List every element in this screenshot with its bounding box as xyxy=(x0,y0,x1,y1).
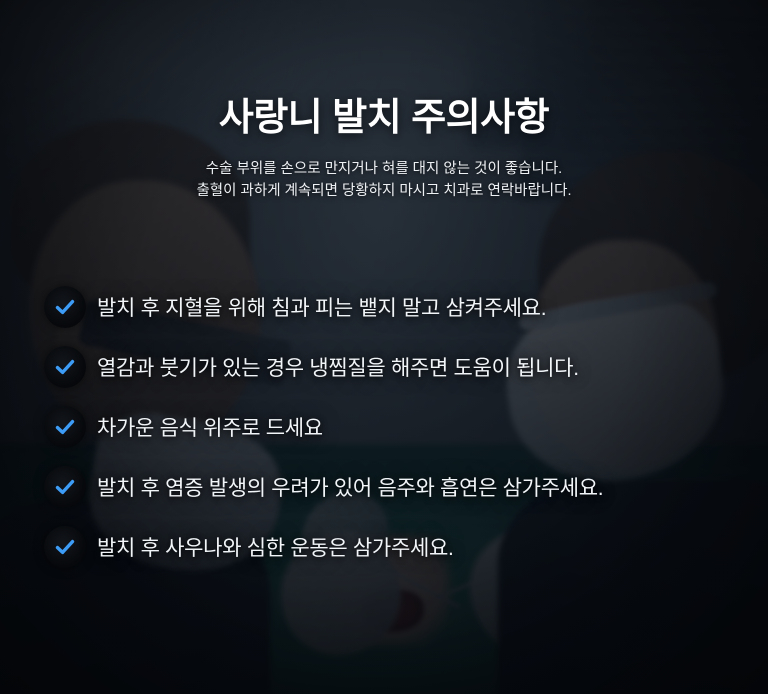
list-item-label: 발치 후 사우나와 심한 운동은 삼가주세요. xyxy=(97,532,454,562)
banner-content: 사랑니 발치 주의사항 수술 부위를 손으로 만지거나 혀를 대지 않는 것이 … xyxy=(0,0,768,694)
list-item: 발치 후 염증 발생의 우려가 있어 음주와 흡연은 삼가주세요. xyxy=(44,457,748,517)
check-icon xyxy=(44,526,86,568)
list-item: 열감과 붓기가 있는 경우 냉찜질을 해주면 도움이 됩니다. xyxy=(44,337,748,397)
check-icon xyxy=(44,406,86,448)
wisdom-tooth-precautions-banner: 사랑니 발치 주의사항 수술 부위를 손으로 만지거나 혀를 대지 않는 것이 … xyxy=(0,0,768,694)
list-item-label: 발치 후 지혈을 위해 침과 피는 뱉지 말고 삼켜주세요. xyxy=(97,292,546,322)
check-icon xyxy=(44,286,86,328)
subtitle-block: 수술 부위를 손으로 만지거나 혀를 대지 않는 것이 좋습니다. 출혈이 과하… xyxy=(0,158,768,202)
list-item-label: 차가운 음식 위주로 드세요 xyxy=(97,412,323,442)
subtitle-line-2: 출혈이 과하게 계속되면 당황하지 마시고 치과로 연락바랍니다. xyxy=(0,180,768,202)
check-icon xyxy=(44,346,86,388)
list-item-label: 열감과 붓기가 있는 경우 냉찜질을 해주면 도움이 됩니다. xyxy=(97,352,579,382)
list-item: 발치 후 사우나와 심한 운동은 삼가주세요. xyxy=(44,517,748,577)
list-item: 발치 후 지혈을 위해 침과 피는 뱉지 말고 삼켜주세요. xyxy=(44,277,748,337)
list-item: 차가운 음식 위주로 드세요 xyxy=(44,397,748,457)
list-item-label: 발치 후 염증 발생의 우려가 있어 음주와 흡연은 삼가주세요. xyxy=(97,472,603,502)
subtitle-line-1: 수술 부위를 손으로 만지거나 혀를 대지 않는 것이 좋습니다. xyxy=(0,158,768,180)
precautions-list: 발치 후 지혈을 위해 침과 피는 뱉지 말고 삼켜주세요. 열감과 붓기가 있… xyxy=(44,277,748,577)
check-icon xyxy=(44,466,86,508)
page-title: 사랑니 발치 주의사항 xyxy=(0,96,768,142)
